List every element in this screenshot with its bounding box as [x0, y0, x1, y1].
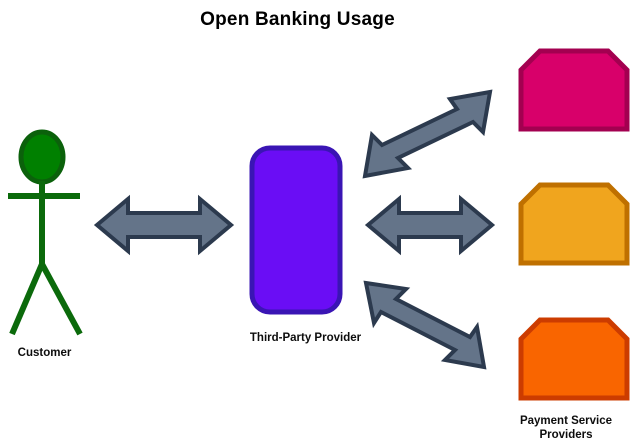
tpp-shape — [252, 148, 340, 312]
node-psp-middle[interactable] — [521, 185, 627, 263]
psp-bottom-shape — [521, 320, 627, 398]
connector-customer-to-tpp[interactable] — [97, 199, 231, 251]
node-psp-bottom[interactable] — [521, 320, 627, 398]
double-arrow-diagonal-icon — [366, 283, 484, 367]
customer-head-icon — [21, 132, 63, 182]
node-customer[interactable] — [8, 132, 80, 334]
double-arrow-icon — [368, 199, 492, 251]
double-arrow-icon — [97, 199, 231, 251]
connector-tpp-to-psp-middle[interactable] — [368, 199, 492, 251]
double-arrow-diagonal-icon — [365, 92, 490, 176]
node-label-third-party-provider: Third-Party Provider — [223, 331, 388, 345]
diagram-canvas — [0, 0, 638, 444]
node-label-payment-service-providers: Payment Service Providers — [494, 414, 638, 442]
node-third-party-provider[interactable] — [252, 148, 340, 312]
connector-tpp-to-psp-bottom[interactable] — [366, 283, 484, 367]
psp-top-shape — [521, 51, 627, 129]
customer-right-leg-line — [42, 264, 80, 334]
customer-left-leg-line — [12, 264, 42, 334]
connector-tpp-to-psp-top[interactable] — [365, 92, 490, 176]
node-label-customer: Customer — [0, 346, 89, 360]
psp-middle-shape — [521, 185, 627, 263]
node-psp-top[interactable] — [521, 51, 627, 129]
